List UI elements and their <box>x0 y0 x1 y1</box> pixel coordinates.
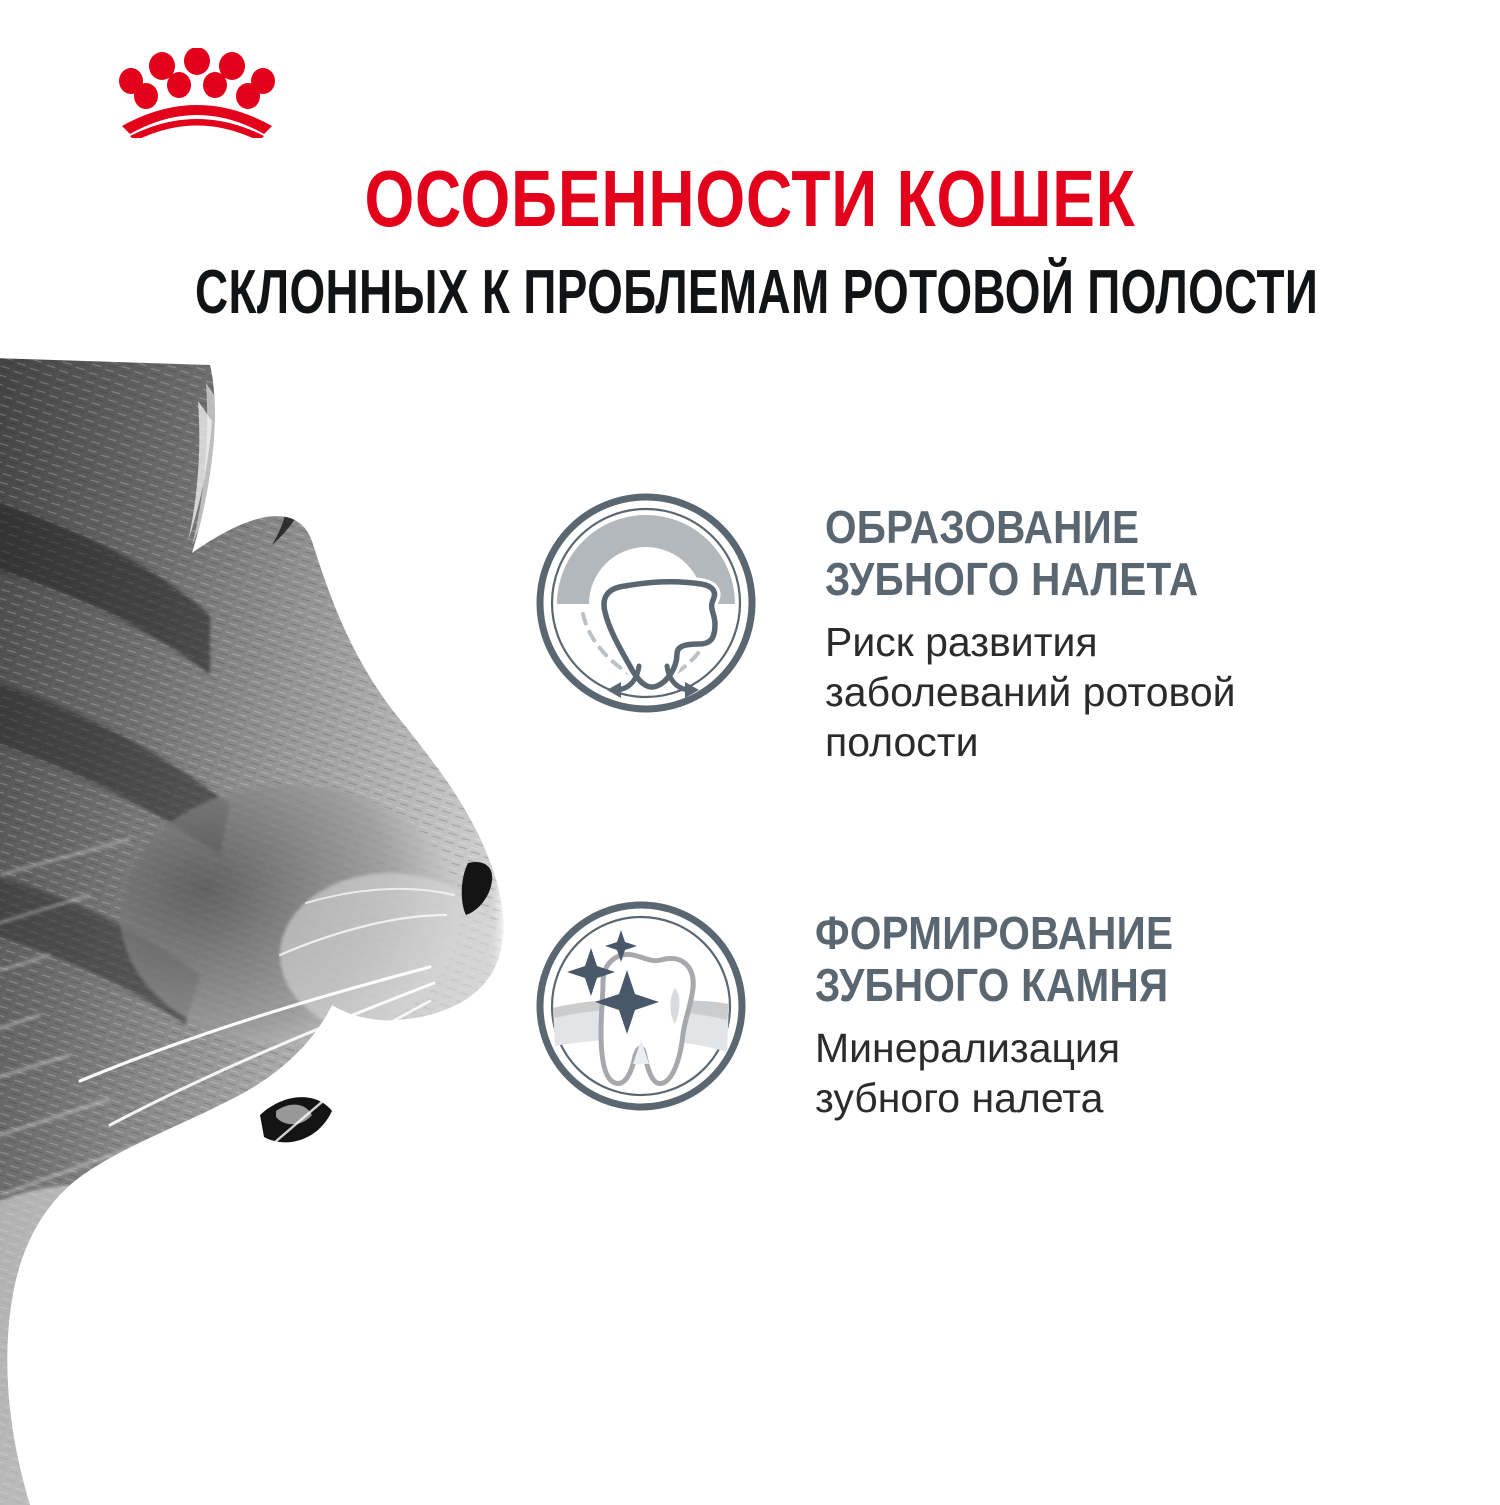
feature-title: ОБРАЗОВАНИЕ ЗУБНОГО НАЛЕТА <box>825 502 1198 605</box>
feature-body: Минерализация зубного налета <box>815 1023 1222 1123</box>
page-title: ОСОБЕННОСТИ КОШЕК <box>150 160 1350 238</box>
tartar-tooth-icon <box>535 900 747 1112</box>
page-subtitle: СКЛОННЫХ К ПРОБЛЕМАМ РОТОВОЙ ПОЛОСТИ <box>195 262 1305 324</box>
feature-title: ФОРМИРОВАНИЕ ЗУБНОГО КАМНЯ <box>815 908 1173 1011</box>
cat-profile-photo <box>0 355 600 1505</box>
dental-plaque-icon <box>535 492 757 714</box>
feature-row-plaque: ОБРАЗОВАНИЕ ЗУБНОГО НАЛЕТА Риск развития… <box>535 492 1249 767</box>
feature-text-tartar: ФОРМИРОВАНИЕ ЗУБНОГО КАМНЯ Минерализация… <box>815 900 1222 1123</box>
feature-text-plaque: ОБРАЗОВАНИЕ ЗУБНОГО НАЛЕТА Риск развития… <box>825 492 1249 767</box>
page-title-block: ОСОБЕННОСТИ КОШЕК СКЛОННЫХ К ПРОБЛЕМАМ Р… <box>0 160 1500 324</box>
feature-row-tartar: ФОРМИРОВАНИЕ ЗУБНОГО КАМНЯ Минерализация… <box>535 900 1222 1123</box>
feature-body: Риск развития заболеваний ротовой полост… <box>825 617 1249 767</box>
royal-canin-crown-logo <box>112 48 282 138</box>
tooth-shape <box>601 954 693 1083</box>
